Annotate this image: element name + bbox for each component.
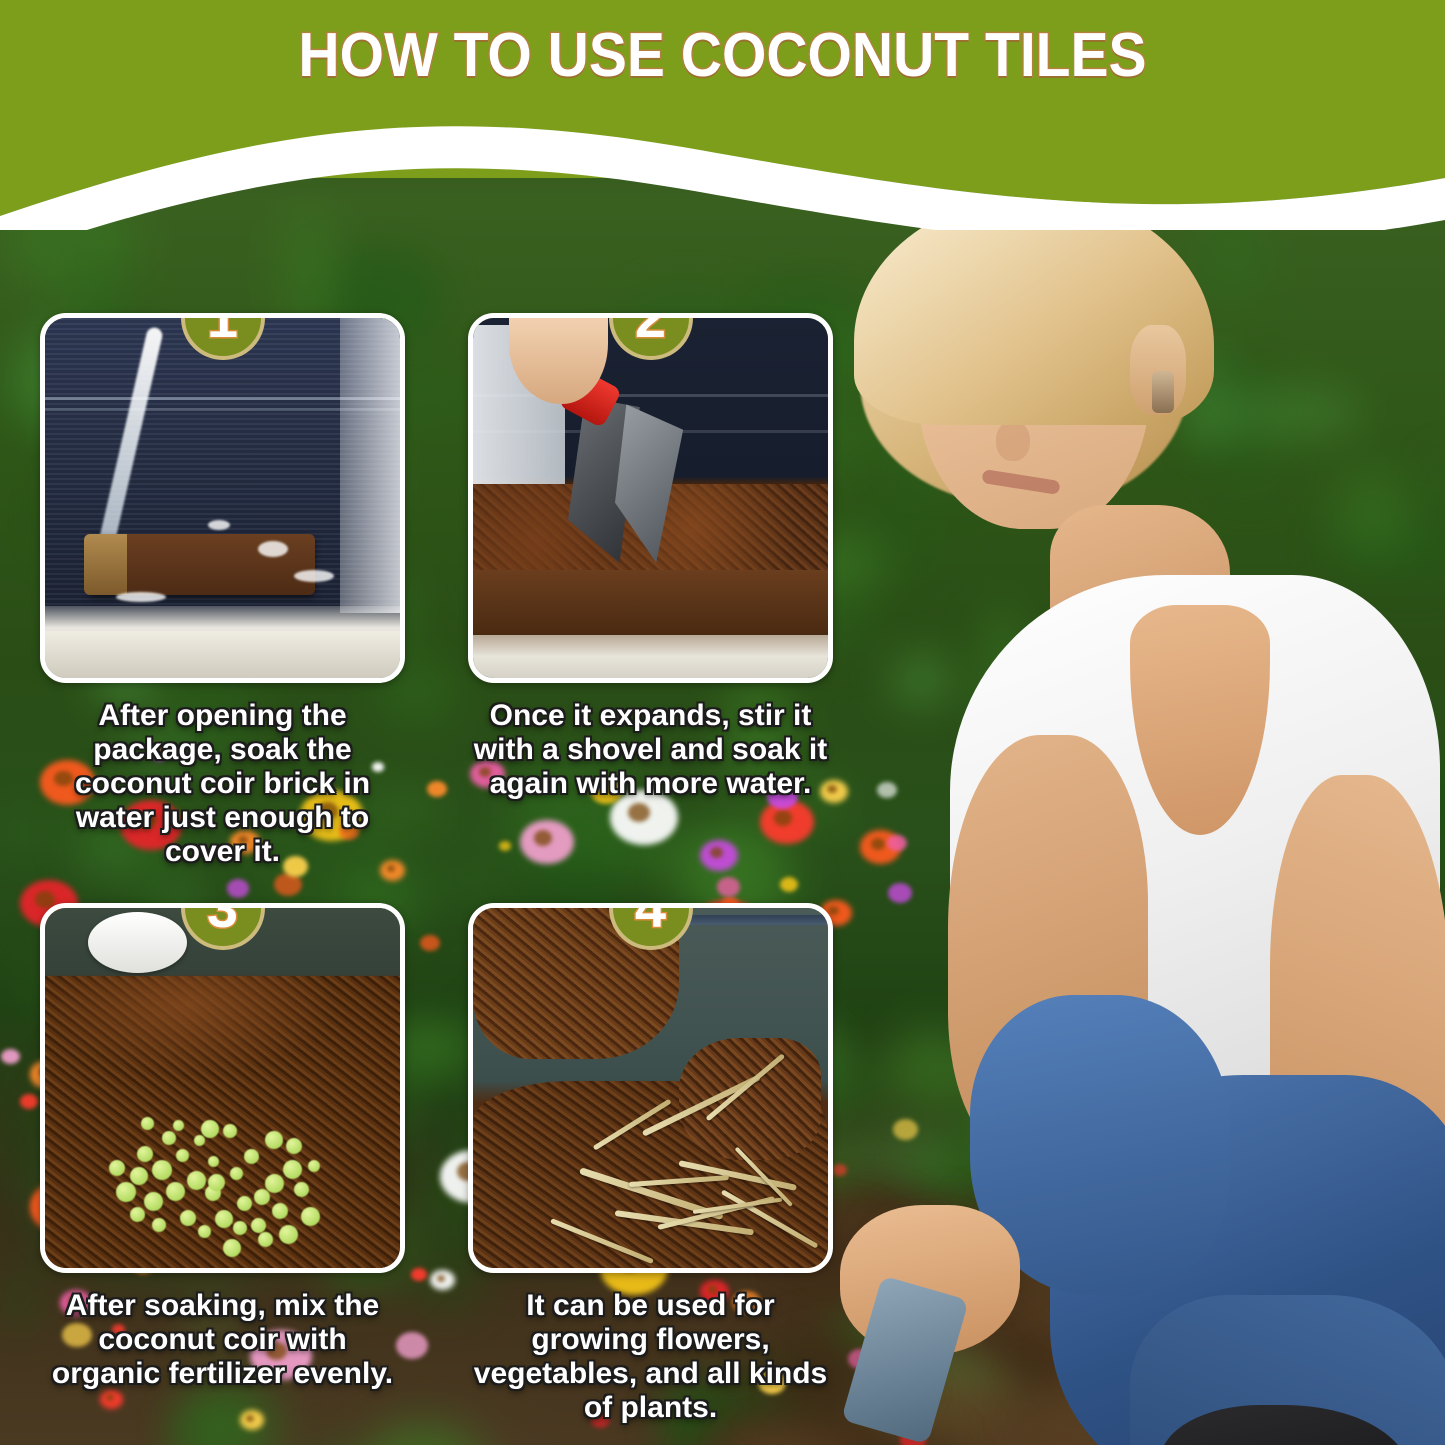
step-card-4: 4 It can be used for growing flowers, ve… [468, 903, 833, 1425]
woman-gardener-photo [800, 175, 1445, 1445]
illustration-stir-trowel [473, 318, 828, 678]
flower-small [780, 877, 798, 892]
fertilizer-pellet [279, 1225, 298, 1244]
fertilizer-pellet [109, 1160, 125, 1176]
fertilizer-pellet [301, 1207, 320, 1226]
header-banner: HOW TO USE COCONUT TILES [0, 0, 1445, 215]
header-wave-divider [0, 120, 1445, 230]
fertilizer-pellet [244, 1149, 259, 1164]
fertilizer-pellet [198, 1225, 211, 1238]
step-number-1: 1 [207, 313, 238, 346]
step-number-4: 4 [635, 903, 666, 936]
fertilizer-pellet [194, 1135, 205, 1146]
fertilizer-pellet [230, 1167, 243, 1180]
flower-center [774, 810, 792, 825]
fertilizer-pellet [137, 1146, 153, 1162]
fertilizer-pellet [141, 1117, 154, 1130]
fertilizer-pellet [223, 1239, 241, 1257]
fertilizer-pellet [223, 1124, 237, 1138]
page-title: HOW TO USE COCONUT TILES [58, 20, 1387, 91]
step-caption-4: It can be used for growing flowers, vege… [468, 1289, 833, 1425]
illustration-water-soak [45, 318, 400, 678]
fertilizer-pellet [237, 1196, 252, 1211]
nose [996, 421, 1030, 461]
step-image-3: 3 [40, 903, 405, 1273]
fertilizer-pellet [116, 1182, 136, 1202]
illustration-fertilizer-mix [45, 908, 400, 1268]
flower-small [499, 841, 511, 851]
fertilizer-pellet [251, 1218, 266, 1233]
fertilizer-pellet [152, 1160, 172, 1180]
step-caption-2: Once it expands, stir it with a shovel a… [468, 699, 833, 801]
flower-center [710, 847, 723, 858]
flower-small [427, 781, 446, 797]
step-image-1: 1 [40, 313, 405, 683]
illustration-roots-in-coir [473, 908, 828, 1268]
flower-center [246, 1415, 254, 1422]
step-caption-1: After opening the package, soak the coco… [40, 699, 405, 869]
step-card-3: 3 After soaking, mix the coconut coir wi… [40, 903, 405, 1391]
step-number-3: 3 [207, 903, 238, 936]
fertilizer-pellet [308, 1160, 320, 1172]
fertilizer-pellet [166, 1182, 185, 1201]
step-image-4: 4 [468, 903, 833, 1273]
flower-small [717, 877, 740, 896]
foliage-blob [418, 864, 520, 897]
step-card-2: 2 Once it expands, stir it with a shovel… [468, 313, 833, 801]
fertilizer-pellet [187, 1171, 206, 1190]
step-number-2: 2 [635, 313, 666, 346]
foliage-blob [2, 1265, 36, 1329]
step-image-2: 2 [468, 313, 833, 683]
fertilizer-pellet [294, 1182, 309, 1197]
flower-center [437, 1275, 445, 1282]
step-card-1: 1 After opening the package, soak the co… [40, 313, 405, 869]
fertilizer-pellet [130, 1207, 145, 1222]
earring [1152, 371, 1174, 413]
infographic-root: HOW TO USE COCONUT TILES 1 [0, 0, 1445, 1445]
fertilizer-pellet [152, 1218, 166, 1232]
flower-small [227, 879, 249, 898]
step-caption-3: After soaking, mix the coconut coir with… [40, 1289, 405, 1391]
fertilizer-pellet [283, 1160, 302, 1179]
fertilizer-pellet [258, 1232, 273, 1247]
flower-small [420, 935, 440, 951]
